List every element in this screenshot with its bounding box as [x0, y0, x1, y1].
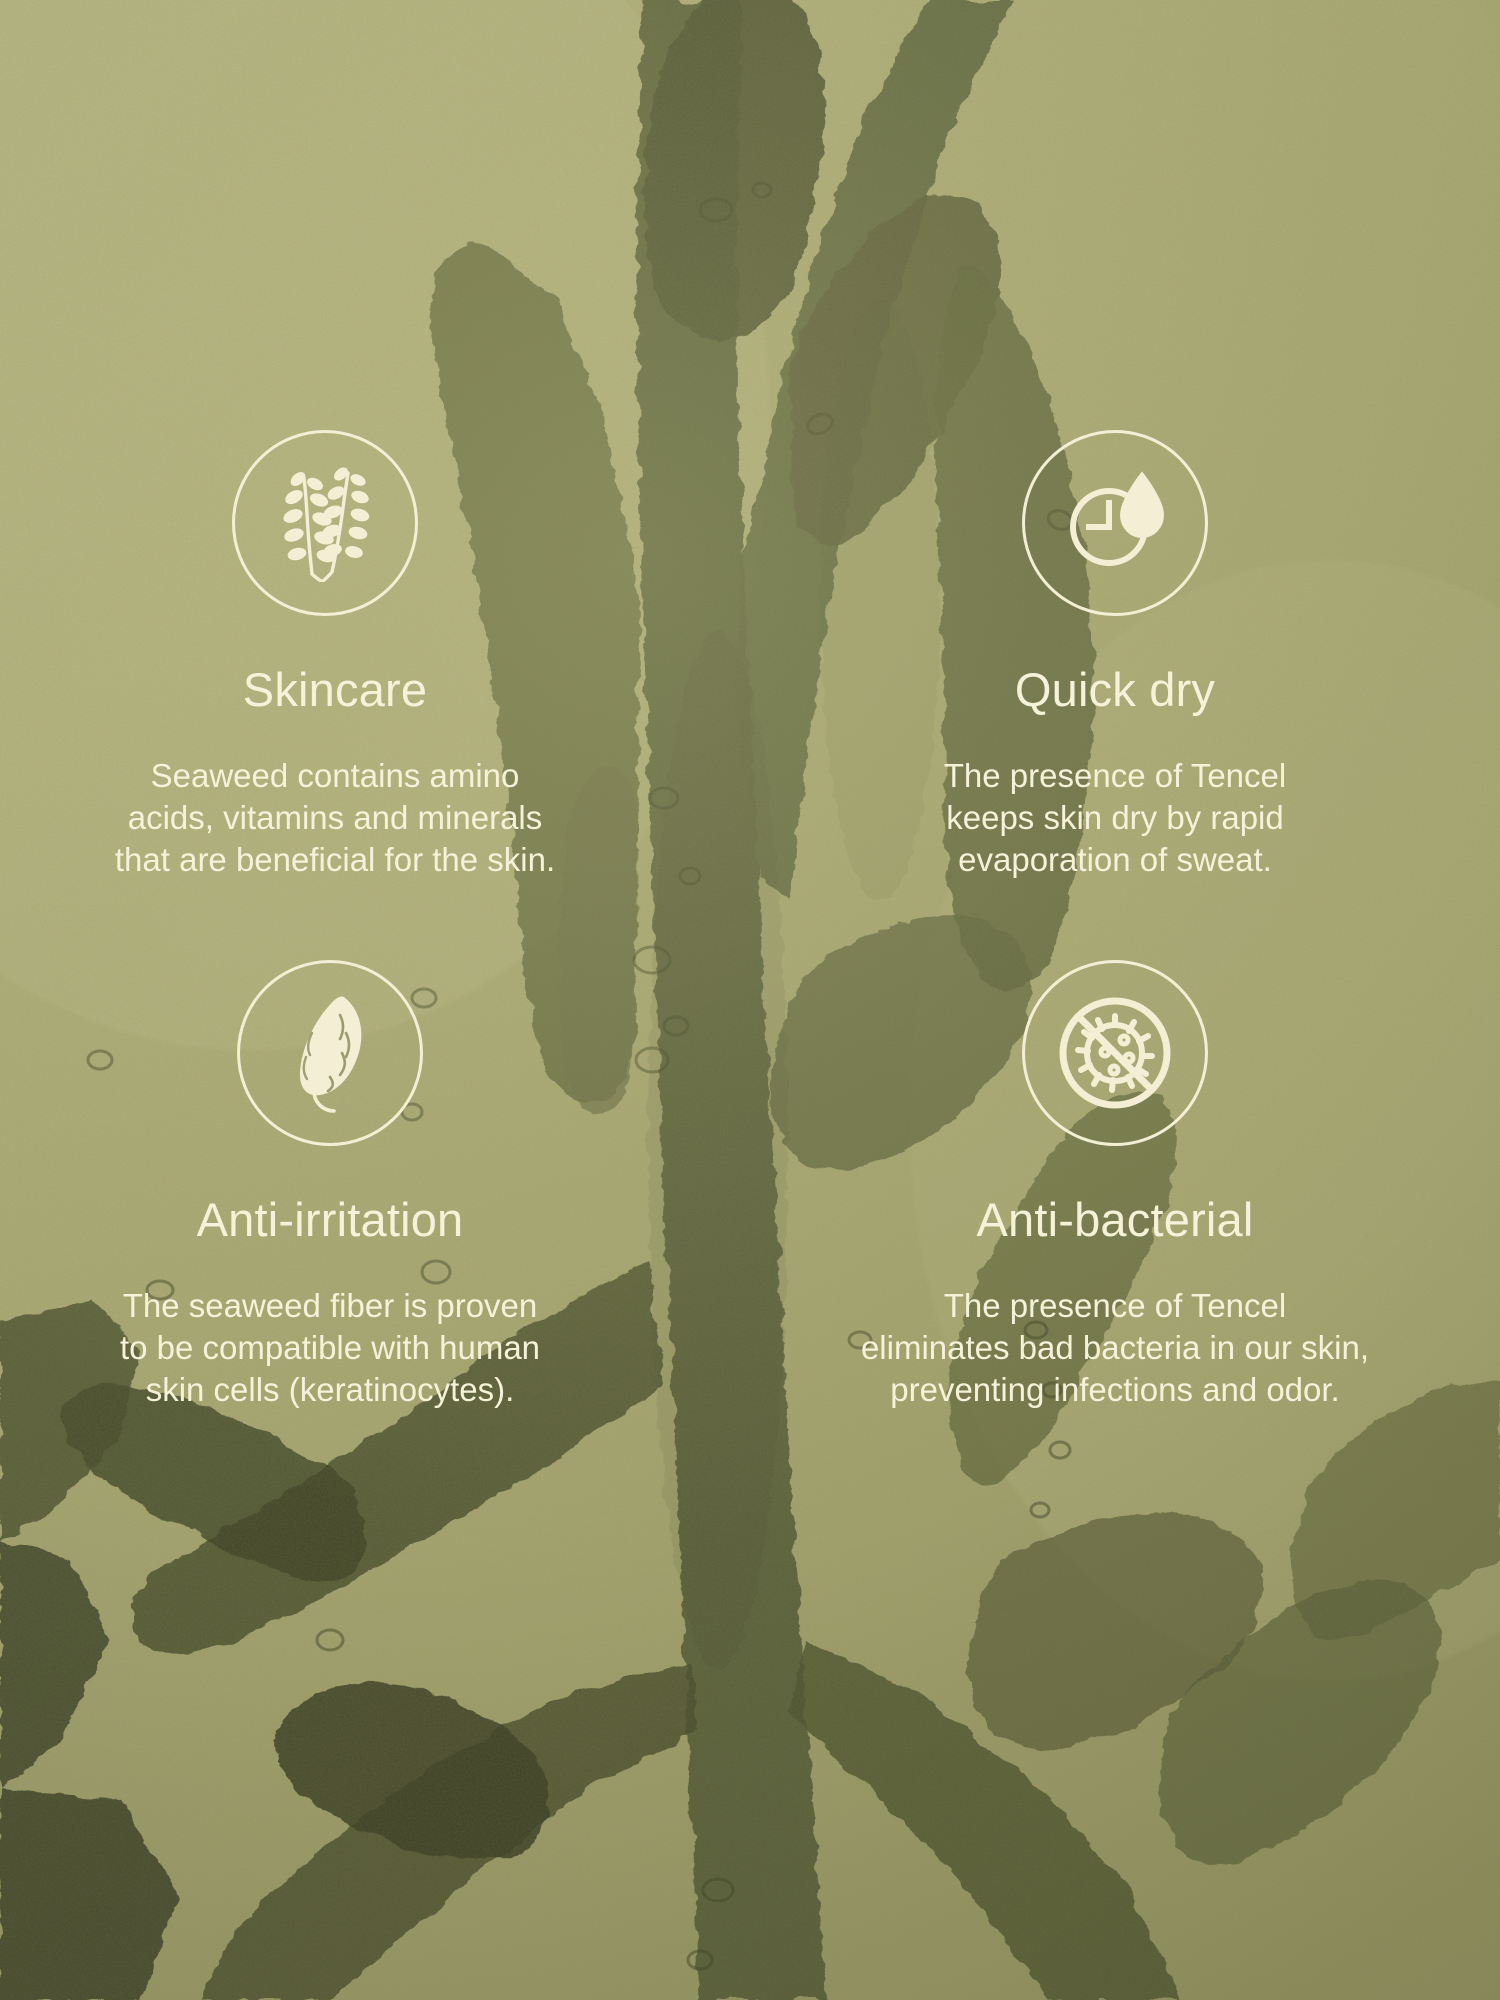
- feature-grid: Skincare Seaweed contains amino acids, v…: [0, 0, 1500, 2000]
- feature-title: Anti-irritation: [197, 1196, 464, 1243]
- feature-title: Quick dry: [1015, 666, 1215, 713]
- feature-title: Skincare: [243, 666, 427, 713]
- desc-line: evaporation of sweat.: [944, 839, 1286, 881]
- feature-card-skincare: Skincare Seaweed contains amino acids, v…: [0, 430, 750, 960]
- feature-card-anti-irritation: Anti-irritation The seaweed fiber is pro…: [0, 960, 750, 1480]
- desc-line: The seaweed fiber is proven: [120, 1285, 540, 1327]
- desc-line: that are beneficial for the skin.: [115, 839, 555, 881]
- desc-line: The presence of Tencel: [861, 1285, 1369, 1327]
- feature-card-anti-bacterial: Anti-bacterial The presence of Tencel el…: [750, 960, 1500, 1480]
- feature-description: Seaweed contains amino acids, vitamins a…: [115, 755, 555, 882]
- desc-line: Seaweed contains amino: [115, 755, 555, 797]
- feature-description: The seaweed fiber is proven to be compat…: [120, 1285, 540, 1412]
- seaweed-sprig-icon: [232, 430, 418, 616]
- desc-line: to be compatible with human: [120, 1327, 540, 1369]
- promo-panel: Skincare Seaweed contains amino acids, v…: [0, 0, 1500, 2000]
- desc-line: preventing infections and odor.: [861, 1369, 1369, 1411]
- no-bacteria-icon: [1022, 960, 1208, 1146]
- feature-description: The presence of Tencel keeps skin dry by…: [944, 755, 1286, 882]
- desc-line: eliminates bad bacteria in our skin,: [861, 1327, 1369, 1369]
- desc-line: acids, vitamins and minerals: [115, 797, 555, 839]
- feature-title: Anti-bacterial: [976, 1196, 1253, 1243]
- desc-line: keeps skin dry by rapid: [944, 797, 1286, 839]
- feature-description: The presence of Tencel eliminates bad ba…: [861, 1285, 1369, 1412]
- desc-line: The presence of Tencel: [944, 755, 1286, 797]
- feather-icon: [237, 960, 423, 1146]
- desc-line: skin cells (keratinocytes).: [120, 1369, 540, 1411]
- clock-droplet-icon: [1022, 430, 1208, 616]
- feature-card-quick-dry: Quick dry The presence of Tencel keeps s…: [750, 430, 1500, 960]
